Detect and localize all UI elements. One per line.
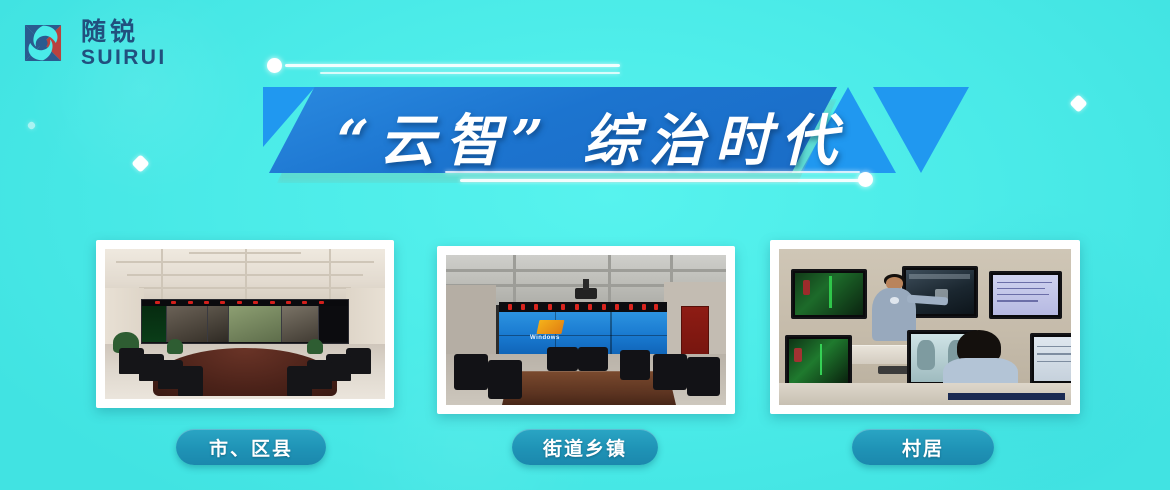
wall-screen	[319, 306, 348, 343]
chair	[547, 347, 578, 371]
plant	[167, 339, 184, 354]
brand-logo[interactable]: 随锐 SUIRUI	[14, 14, 167, 72]
slide-canvas: 随锐 SUIRUI “云智” 综治时代	[0, 0, 1170, 490]
chair	[454, 354, 488, 390]
monitor	[791, 269, 867, 319]
decor-dot-icon	[267, 58, 282, 73]
ceiling	[105, 249, 385, 303]
decor-line-icon	[460, 179, 865, 182]
officer-shoulder-badge	[890, 297, 899, 303]
plant	[307, 339, 324, 354]
card-label-text: 街道乡镇	[543, 434, 627, 461]
city-district-command-center-photo	[105, 249, 385, 399]
chair	[178, 366, 203, 396]
led-ticker	[499, 302, 667, 313]
wall-screen	[142, 306, 167, 343]
decor-triangle-icon	[873, 87, 969, 173]
photo-card[interactable]: Windows	[437, 246, 735, 414]
card-label-pill[interactable]: 街道乡镇	[512, 429, 658, 465]
decor-diamond-icon	[1069, 94, 1087, 112]
card-label-pill[interactable]: 村居	[852, 429, 994, 465]
page-title: “云智” 综治时代	[337, 96, 847, 177]
wall-screen	[229, 306, 282, 343]
decor-dot-icon	[858, 172, 873, 187]
monitor	[785, 335, 852, 388]
decor-line-icon	[285, 64, 620, 67]
township-meeting-room-photo: Windows	[446, 255, 726, 405]
projector-mount	[583, 279, 589, 290]
wall-screen	[282, 306, 319, 343]
chair	[687, 357, 721, 396]
decor-line-icon	[320, 72, 620, 74]
chair	[578, 347, 609, 371]
brand-name-cn: 随锐	[81, 19, 167, 44]
card-label-text: 村居	[902, 434, 944, 461]
chair	[620, 350, 651, 380]
village-monitoring-room-photo	[779, 249, 1071, 405]
card-label-pill[interactable]: 市、区县	[176, 429, 326, 465]
windows-wordmark: Windows	[530, 335, 560, 341]
wall-screen	[167, 306, 208, 343]
projector	[575, 288, 597, 299]
monitor	[989, 271, 1062, 319]
monitor	[1030, 333, 1071, 384]
photo-card[interactable]	[770, 240, 1080, 414]
suirui-pinwheel-logo-icon	[14, 14, 72, 72]
brand-name-en: SUIRUI	[81, 47, 167, 68]
decor-diamond-icon	[131, 154, 149, 172]
wall-screen	[208, 306, 229, 343]
decor-diamond-icon	[27, 121, 37, 131]
desk-strip	[948, 393, 1065, 401]
title-banner: “云智” 综治时代	[255, 55, 955, 195]
chair	[488, 360, 522, 399]
windows-logo-icon	[537, 320, 565, 334]
photo-card[interactable]	[96, 240, 394, 408]
video-wall	[141, 299, 348, 344]
chair	[287, 366, 312, 396]
chair	[653, 354, 687, 390]
card-label-text: 市、区县	[209, 434, 293, 461]
